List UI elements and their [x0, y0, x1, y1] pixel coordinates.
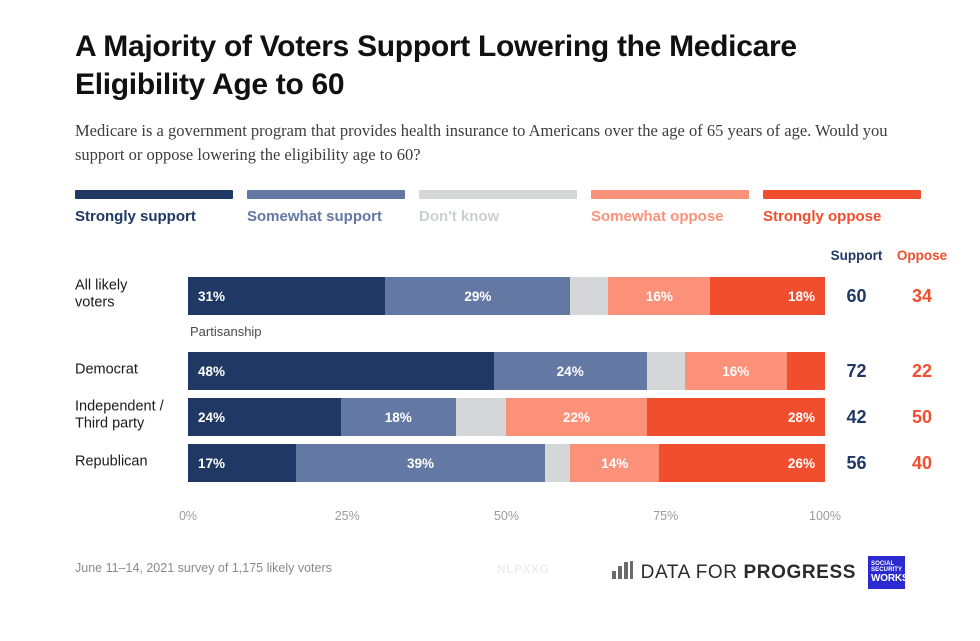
brand-name-light: DATA FOR: [641, 562, 744, 583]
legend-label: Don't know: [419, 208, 577, 225]
chart-subtitle: Medicare is a government program that pr…: [75, 119, 925, 167]
bar-segment-value: 24%: [198, 410, 225, 425]
oppose-total: 22: [888, 361, 956, 382]
data-for-progress-logo: DATA FOR PROGRESS: [612, 561, 856, 584]
totals-column-headers: Support Oppose: [825, 248, 970, 263]
legend-swatch-icon: [763, 190, 921, 199]
header: A Majority of Voters Support Lowering th…: [75, 28, 925, 167]
bar-segment: [545, 444, 570, 482]
bar-segment-value: 16%: [722, 364, 749, 379]
bar-segment-value: 39%: [407, 456, 434, 471]
legend-swatch-icon: [591, 190, 749, 199]
chart-row: Republican17%39%14%26%5640: [0, 439, 980, 485]
bar-segment: 22%: [506, 398, 646, 436]
legend-item: Don't know: [419, 190, 591, 225]
row-totals: 5640: [825, 444, 970, 482]
stacked-bar: 48%24%16%: [188, 352, 825, 390]
chart-row: Democrat48%24%16%7222: [0, 347, 980, 393]
stacked-bar: 17%39%14%26%: [188, 444, 825, 482]
legend-swatch-icon: [247, 190, 405, 199]
chart-plot-area: All likelyvoters31%29%16%18%6034Partisan…: [0, 272, 980, 485]
social-security-works-logo: SOCIAL SECURITY WORKS.: [868, 556, 905, 589]
bar-segment: 28%: [647, 398, 825, 436]
bar-segment-value: 48%: [198, 364, 225, 379]
legend-item: Somewhat support: [247, 190, 419, 225]
chart-row: All likelyvoters31%29%16%18%6034: [0, 272, 980, 318]
bar-segment: 24%: [494, 352, 647, 390]
x-axis-tick-label: 0%: [179, 509, 197, 523]
row-label-line: All likely: [75, 278, 185, 295]
bar-segment: 24%: [188, 398, 341, 436]
bar-segment: 48%: [188, 352, 494, 390]
bar-segment-value: 26%: [788, 456, 815, 471]
bar-segment-value: 28%: [788, 410, 815, 425]
support-total: 72: [825, 361, 888, 382]
x-axis: 0%25%50%75%100%: [188, 509, 825, 529]
stacked-bar: 31%29%16%18%: [188, 277, 825, 315]
bar-segment: 17%: [188, 444, 296, 482]
chart-page: A Majority of Voters Support Lowering th…: [0, 0, 980, 641]
bar-segment-value: 22%: [563, 410, 590, 425]
watermark-text: NLPXXG: [497, 562, 549, 576]
bar-segment: 16%: [685, 352, 787, 390]
bar-segment-value: 29%: [464, 289, 491, 304]
oppose-column-header: Oppose: [888, 248, 956, 263]
legend-swatch-icon: [75, 190, 233, 199]
legend-label: Somewhat oppose: [591, 208, 749, 225]
brand-bar: DATA FOR PROGRESS SOCIAL SECURITY WORKS.: [612, 556, 905, 589]
bar-segment: 16%: [608, 277, 710, 315]
brand-name-bold: PROGRESS: [744, 562, 857, 583]
oppose-total: 34: [888, 286, 956, 307]
ssw-line-3: WORKS.: [871, 574, 902, 584]
x-axis-tick-label: 25%: [335, 509, 360, 523]
bar-segment: 14%: [570, 444, 659, 482]
legend-item: Somewhat oppose: [591, 190, 763, 225]
oppose-total: 40: [888, 453, 956, 474]
bar-segment-value: 18%: [788, 289, 815, 304]
row-totals: 7222: [825, 352, 970, 390]
legend-label: Somewhat support: [247, 208, 405, 225]
legend-item: Strongly oppose: [763, 190, 935, 225]
bar-segment-value: 16%: [646, 289, 673, 304]
chart-row: Independent /Third party24%18%22%28%4250: [0, 393, 980, 439]
x-axis-tick-label: 100%: [809, 509, 841, 523]
row-totals: 4250: [825, 398, 970, 436]
bar-segment: 26%: [659, 444, 825, 482]
legend-item: Strongly support: [75, 190, 247, 225]
support-total: 60: [825, 286, 888, 307]
row-label: Independent /Third party: [75, 399, 185, 434]
row-label: Republican: [75, 453, 185, 470]
bar-segment: 39%: [296, 444, 544, 482]
legend-swatch-icon: [419, 190, 577, 199]
row-label-line: Republican: [75, 453, 185, 470]
chart-legend: Strongly supportSomewhat supportDon't kn…: [75, 190, 935, 225]
support-total: 56: [825, 453, 888, 474]
bar-segment: 18%: [341, 398, 456, 436]
legend-label: Strongly oppose: [763, 208, 921, 225]
bar-segment-value: 14%: [601, 456, 628, 471]
bar-segment-value: 24%: [557, 364, 584, 379]
x-axis-tick-label: 50%: [494, 509, 519, 523]
bar-segment: 18%: [710, 277, 825, 315]
stacked-bar: 24%18%22%28%: [188, 398, 825, 436]
row-label-line: Third party: [75, 416, 185, 433]
page-title: A Majority of Voters Support Lowering th…: [75, 28, 895, 105]
oppose-total: 50: [888, 407, 956, 428]
bar-segment-value: 17%: [198, 456, 225, 471]
bar-segment-value: 18%: [385, 410, 412, 425]
row-totals: 6034: [825, 277, 970, 315]
bar-segment: [647, 352, 685, 390]
group-heading: Partisanship: [0, 318, 980, 347]
bar-segment: [787, 352, 825, 390]
row-label: Democrat: [75, 361, 185, 378]
bar-segment: 29%: [385, 277, 570, 315]
x-axis-tick-label: 75%: [653, 509, 678, 523]
legend-label: Strongly support: [75, 208, 233, 225]
bar-segment: 31%: [188, 277, 385, 315]
bar-segment: [570, 277, 608, 315]
group-heading-label: Partisanship: [190, 324, 262, 339]
row-label-line: Independent /: [75, 399, 185, 416]
survey-note: June 11–14, 2021 survey of 1,175 likely …: [75, 561, 332, 575]
bar-segment: [456, 398, 507, 436]
bar-segment-value: 31%: [198, 289, 225, 304]
row-label: All likelyvoters: [75, 278, 185, 313]
row-label-line: voters: [75, 295, 185, 312]
bar-chart-icon: [612, 561, 634, 584]
support-total: 42: [825, 407, 888, 428]
support-column-header: Support: [825, 248, 888, 263]
brand-name: DATA FOR PROGRESS: [641, 562, 856, 584]
row-label-line: Democrat: [75, 361, 185, 378]
